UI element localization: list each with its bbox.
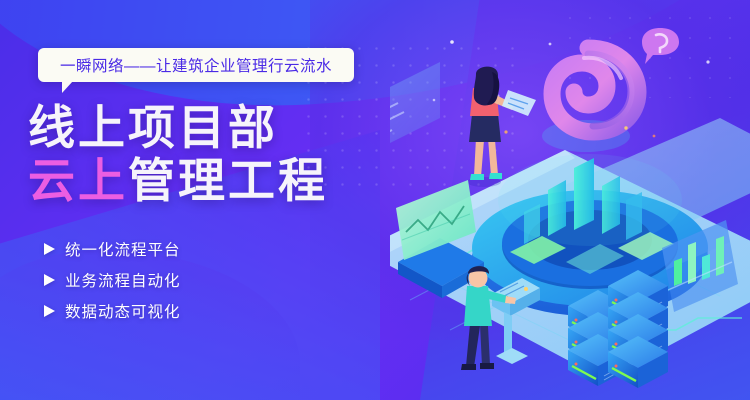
list-item: 数据动态可视化 xyxy=(44,298,181,324)
document-panel xyxy=(390,62,440,168)
chat-bubble-icon xyxy=(642,28,679,64)
isometric-illustration xyxy=(390,0,750,400)
bullet-label: 统一化流程平台 xyxy=(65,238,181,260)
headline-line-2: 云上管理工程 xyxy=(28,157,328,205)
list-item: 统一化流程平台 xyxy=(44,236,181,262)
server-rack-right xyxy=(608,270,668,388)
triangle-bullet-icon xyxy=(44,243,55,255)
bubble-tail xyxy=(62,81,79,93)
e-swirl-logo xyxy=(542,48,638,152)
headline-accent-text: 云上 xyxy=(28,154,128,207)
bullet-label: 数据动态可视化 xyxy=(65,300,181,322)
bullet-label: 业务流程自动化 xyxy=(65,269,181,291)
headline-line-1: 线上项目部 xyxy=(28,104,328,152)
feature-bullet-list: 统一化流程平台 业务流程自动化 数据动态可视化 xyxy=(44,236,181,329)
list-item: 业务流程自动化 xyxy=(44,267,181,293)
headline-rest-text: 管理工程 xyxy=(128,154,328,207)
tagline-text: 一瞬网络——让建筑企业管理行云流水 xyxy=(60,54,332,76)
triangle-bullet-icon xyxy=(44,274,55,286)
tagline-bubble: 一瞬网络——让建筑企业管理行云流水 xyxy=(38,48,354,82)
triangle-bullet-icon xyxy=(44,305,55,317)
headline-block: 线上项目部 云上管理工程 xyxy=(28,104,328,205)
promotional-banner: 一瞬网络——让建筑企业管理行云流水 线上项目部 云上管理工程 统一化流程平台 业… xyxy=(0,0,750,400)
